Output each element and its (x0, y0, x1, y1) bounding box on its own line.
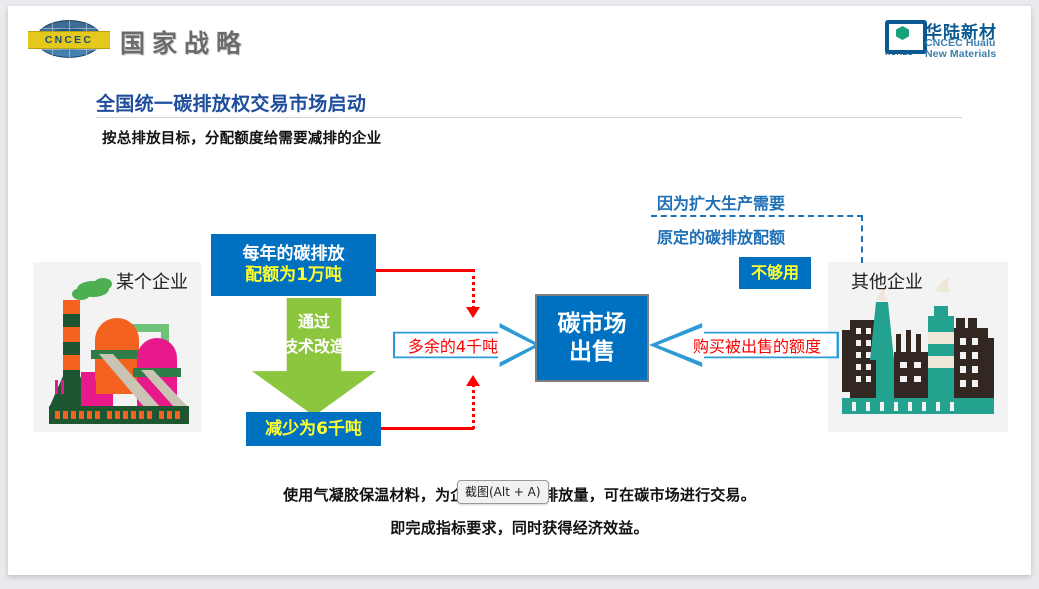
carbon-market-line1: 碳市场 (558, 310, 627, 338)
not-enough-box: 不够用 (739, 257, 811, 289)
slide-canvas: CNCEC 国家战略 HUALU 华陆新材 CNCEC Hualu New Ma… (8, 6, 1031, 575)
carbon-market-line2: 出售 (569, 338, 615, 366)
purchase-banner-label: 购买被出售的额度 (693, 333, 821, 357)
green-arrow-line2: 技术改造 (282, 335, 346, 360)
annual-quota-line1: 每年的碳排放 (243, 244, 345, 265)
red-arrowhead-down (466, 307, 480, 318)
annual-quota-line2: 配额为1万吨 (245, 265, 342, 286)
annual-quota-box: 每年的碳排放 配额为1万吨 (211, 234, 376, 296)
screenshot-shortcut-tooltip[interactable]: 截图(Alt + A) (457, 480, 549, 504)
footer-caption-line2: 即完成指标要求，同时获得经济效益。 (8, 517, 1031, 538)
not-enough-label: 不够用 (751, 263, 799, 283)
red-connector-top-vertical (472, 269, 475, 309)
reduced-emission-box: 减少为6千吨 (246, 412, 381, 446)
left-enterprise-caption: 某个企业 (116, 268, 188, 294)
expansion-note-line2: 原定的碳排放配额 (657, 224, 785, 248)
carbon-market-box: 碳市场 出售 (535, 294, 649, 382)
technology-upgrade-arrow: 通过 技术改造 (252, 298, 376, 416)
dashed-connector-horizontal (651, 215, 863, 217)
dashed-connector-vertical (861, 215, 863, 263)
right-enterprise-caption: 其他企业 (851, 268, 923, 294)
red-connector-bottom-vertical (472, 384, 475, 429)
surplus-banner-arrow: 多余的4千吨 (393, 323, 541, 367)
green-arrow-line1: 通过 (298, 310, 330, 335)
purchase-banner-arrow: 购买被出售的额度 (649, 323, 839, 367)
red-connector-bottom-horizontal (381, 427, 474, 430)
expansion-note-line1: 因为扩大生产需要 (657, 190, 785, 214)
reduced-emission-label: 减少为6千吨 (265, 419, 362, 440)
red-connector-top-horizontal (376, 269, 474, 272)
footer-caption-part-c: 排放量，可在碳市场进行交易。 (543, 486, 756, 504)
red-arrowhead-up (466, 375, 480, 386)
surplus-banner-label: 多余的4千吨 (408, 333, 498, 357)
